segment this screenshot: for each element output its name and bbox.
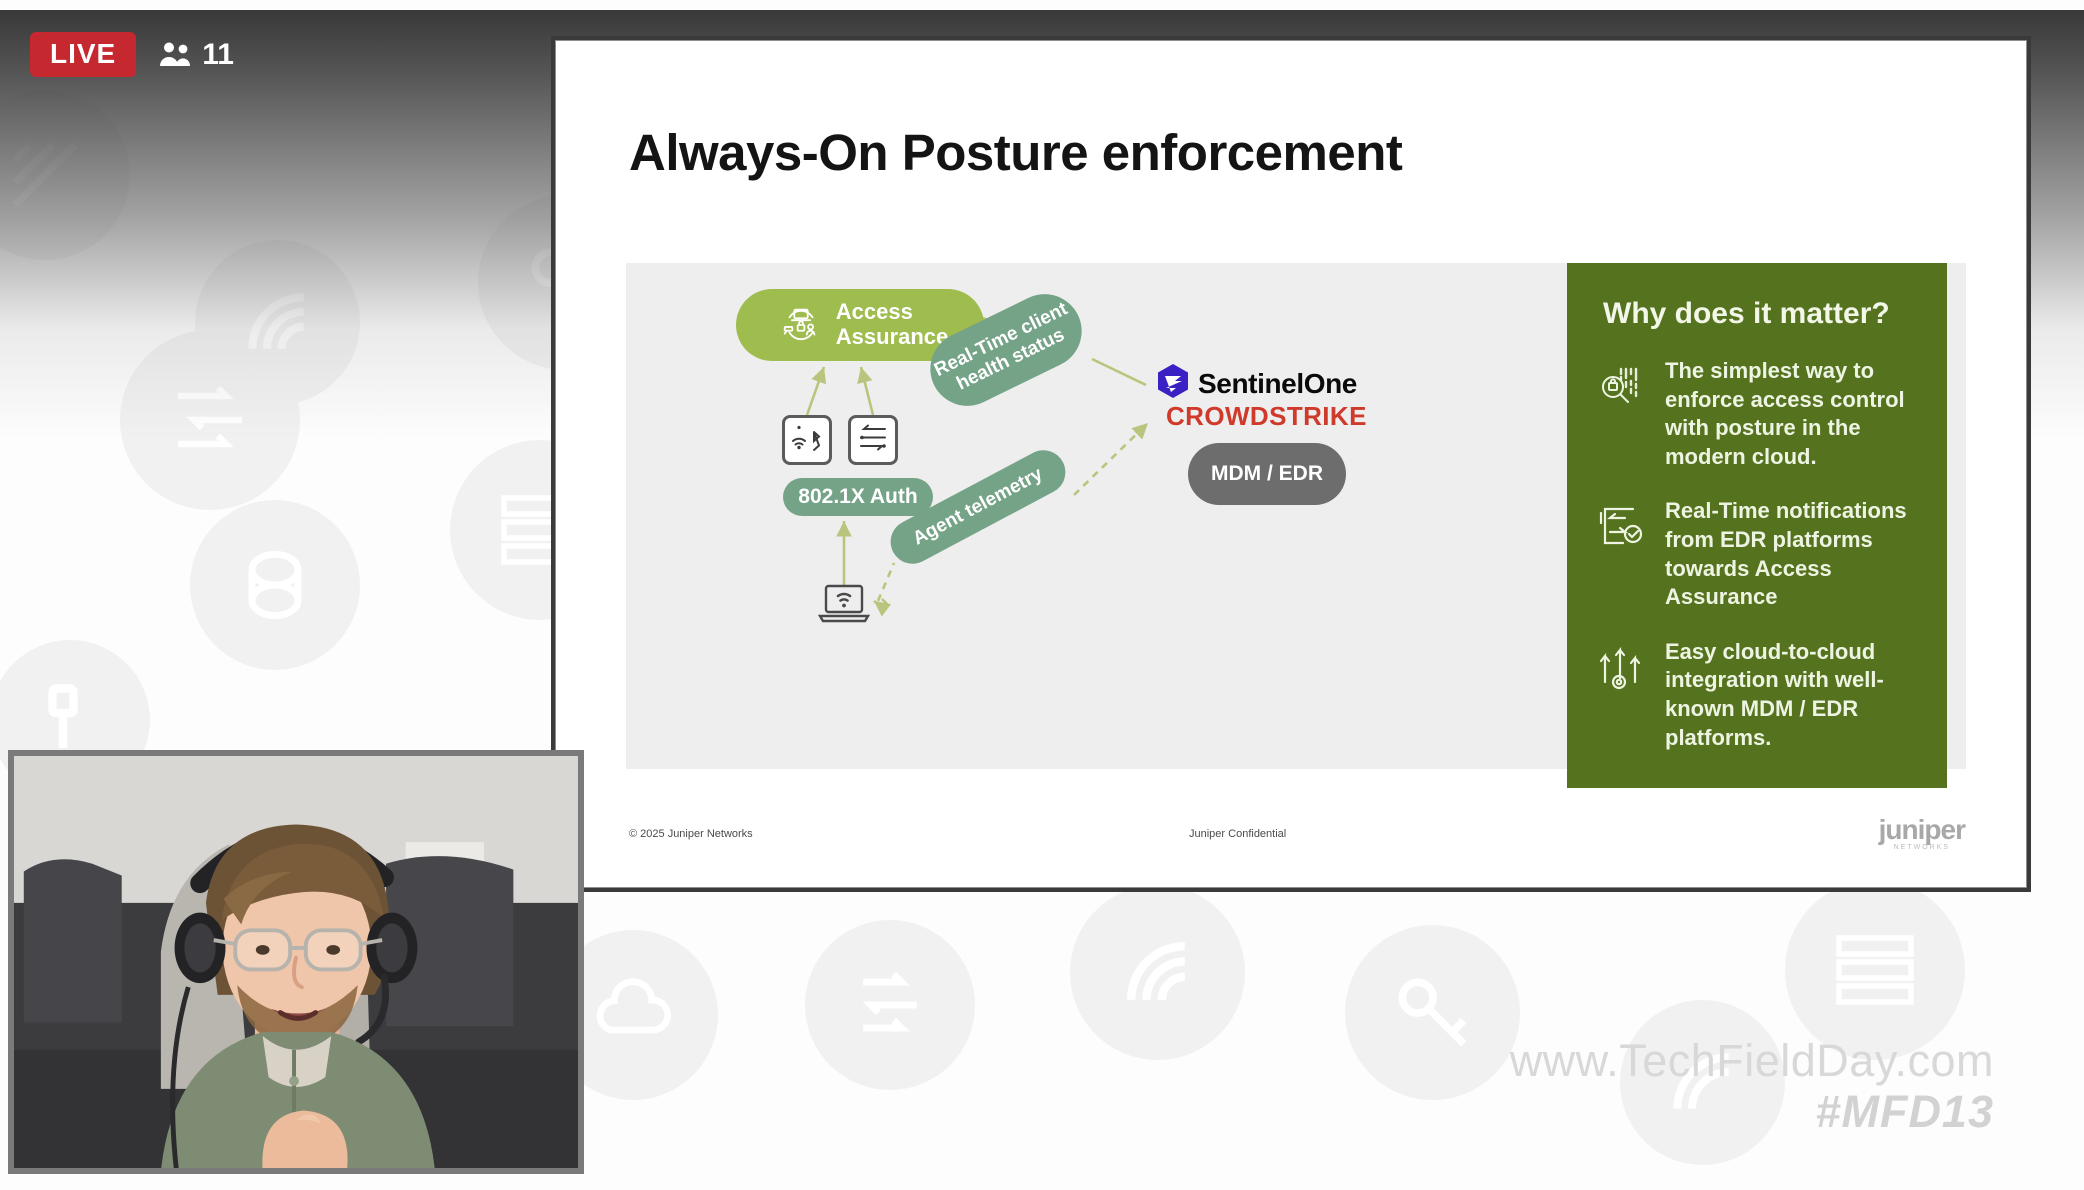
juniper-wordmark: juniper <box>1879 814 1965 846</box>
people-icon <box>158 41 192 69</box>
mdm-edr-label: MDM / EDR <box>1211 462 1323 486</box>
logo-crowdstrike: CROWDSTRIKE <box>1166 401 1367 432</box>
slide-footer: © 2025 Juniper Networks Juniper Confiden… <box>555 822 2027 852</box>
wifi-bluetooth-icon <box>790 423 824 458</box>
watermark-icon-signal-2 <box>1070 885 1245 1060</box>
why-item: Real-Time notifications from EDR platfor… <box>1593 497 1921 611</box>
shared-slide-window[interactable]: Always-On Posture enforcement <box>551 36 2031 892</box>
watermark-icon-signal-3 <box>1620 1000 1785 1165</box>
confidential-text: Juniper Confidential <box>1189 828 1286 840</box>
watermark-icon-server-2 <box>1785 880 1965 1060</box>
why-panel-title: Why does it matter? <box>1603 297 1921 331</box>
watermark-icon-wifi <box>0 90 130 260</box>
cloud-integration-icon <box>1593 640 1647 694</box>
juniper-logo: juniper NETWORKS <box>1879 814 1965 851</box>
device-access-point <box>782 415 832 465</box>
slide-title: Always-On Posture enforcement <box>629 123 1402 182</box>
viewer-count: 11 <box>158 38 234 72</box>
access-assurance-icon <box>778 302 824 348</box>
node-mdm-edr: MDM / EDR <box>1188 443 1346 505</box>
watermark-icon-key-2 <box>1345 925 1520 1100</box>
why-item-text: The simplest way to enforce access contr… <box>1665 357 1921 471</box>
node-access-assurance-label: Access Assurance <box>836 300 949 349</box>
device-switch <box>848 415 898 465</box>
live-badge: LIVE <box>30 32 136 77</box>
watermark-icon-signal <box>195 240 360 405</box>
auth-label: 802.1X Auth <box>798 485 917 509</box>
why-item-text: Real-Time notifications from EDR platfor… <box>1665 497 1921 611</box>
sentinelone-mark-icon <box>1156 363 1190 404</box>
watermark-icon-switch-2 <box>805 920 975 1090</box>
copyright-text: © 2025 Juniper Networks <box>629 828 753 840</box>
why-item: The simplest way to enforce access contr… <box>1593 357 1921 471</box>
node-802-1x-auth: 802.1X Auth <box>783 478 933 516</box>
device-client-laptop <box>816 585 872 627</box>
posture-scan-icon <box>1593 359 1647 413</box>
slide-canvas: Always-On Posture enforcement <box>555 40 2027 888</box>
stream-stage: LIVE 11 Always-On Posture enforcement <box>0 0 2084 1190</box>
sentinelone-wordmark: SentinelOne <box>1198 368 1357 400</box>
why-item-text: Easy cloud-to-cloud integration with wel… <box>1665 638 1921 752</box>
presenter-video-frame <box>14 756 578 1171</box>
switch-icon <box>857 423 889 458</box>
why-item: Easy cloud-to-cloud integration with wel… <box>1593 638 1921 752</box>
watermark-icon-cloud <box>190 500 360 670</box>
laptop-wifi-icon <box>816 583 872 630</box>
notification-flow-icon <box>1593 499 1647 553</box>
logo-sentinelone: SentinelOne <box>1156 363 1357 404</box>
presenter-video[interactable] <box>8 750 584 1174</box>
live-status-bar: LIVE 11 <box>30 32 234 77</box>
viewer-count-label: 11 <box>202 38 234 72</box>
why-does-it-matter-panel: Why does it matter? <box>1567 263 1947 788</box>
